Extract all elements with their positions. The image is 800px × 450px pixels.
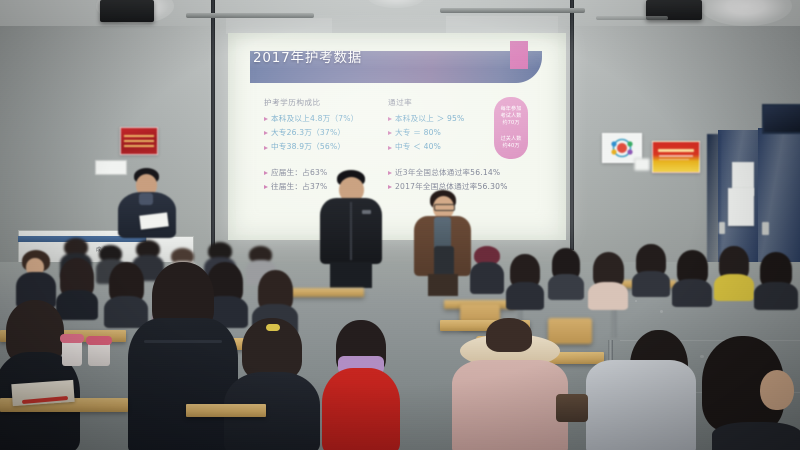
pink-puffer-coat	[452, 360, 568, 450]
red-yellow-banner-poster	[652, 141, 700, 173]
bullet-triangle-icon	[388, 146, 392, 150]
slide-callout-badge: 每年参加 考试人数 约70万 过关人数 约40万	[494, 97, 528, 159]
door-handle-right	[762, 222, 769, 235]
bullet-triangle-icon	[388, 185, 392, 189]
torso	[548, 274, 584, 300]
callout-line: 每年参加	[501, 106, 522, 113]
head	[760, 370, 794, 410]
audience-member	[714, 246, 754, 298]
banner-text-bar	[659, 159, 689, 161]
whiteboard-panel-left	[226, 18, 332, 34]
callout-line: 考试人数	[501, 113, 522, 120]
column-spacer	[264, 158, 389, 169]
bullet-text: 本科及以上4.8万（7%）	[271, 115, 358, 124]
audience-member	[632, 244, 670, 294]
screen-frame-left	[211, 0, 215, 250]
audience-member-foreground	[586, 330, 706, 450]
bullet-text: 大专26.3万（37%）	[271, 129, 345, 138]
puffer-jacket	[128, 318, 238, 450]
lecture-hall-photo: 2017年护考数据 护考学历构成比 本科及以上4.8万（7%） 大专26.3万（…	[0, 0, 800, 450]
bullet-text: 中专38.9万（56%）	[271, 143, 345, 152]
screen-frame-right	[570, 0, 574, 250]
audience-member	[588, 252, 628, 306]
bullet-triangle-icon	[388, 171, 392, 175]
screen-rail-far-right	[596, 16, 668, 20]
bullet-text: 中专 ＜ 40%	[395, 143, 441, 152]
audience-member	[470, 246, 504, 292]
presenter-standing-right	[414, 190, 472, 295]
jacket-logo	[362, 210, 371, 214]
desk-foreground-right	[186, 404, 266, 417]
trousers	[428, 274, 458, 296]
hair-tie	[266, 324, 280, 331]
audience-member	[506, 254, 544, 306]
floor-speck	[660, 310, 663, 313]
banner-headline-bar	[658, 149, 695, 152]
jacket-zip	[350, 202, 352, 260]
bullet-triangle-icon	[264, 171, 268, 175]
bullet-triangle-icon	[388, 131, 392, 135]
classroom-door-right	[758, 128, 800, 266]
column-spacer	[388, 158, 538, 169]
thermos-cup-lid	[60, 334, 84, 343]
projection-screen: 2017年护考数据 护考学历构成比 本科及以上4.8万（7%） 大专26.3万（…	[228, 33, 566, 240]
presenter-at-lectern	[112, 168, 184, 238]
red-coat	[322, 368, 400, 450]
audience-member	[754, 252, 798, 308]
handbag-on-chair	[556, 394, 588, 422]
callout-group-bottom: 过关人数 约40万	[501, 136, 522, 150]
wall-speaker-left	[100, 0, 154, 22]
whiteboard-panel-right	[446, 16, 558, 34]
torso	[714, 274, 754, 301]
door-window	[762, 104, 800, 134]
bullet-text: 近3年全国总体通过率56.14%	[395, 169, 500, 178]
audience-member-foreground	[128, 262, 238, 450]
bullet-item: 本科及以上4.8万（7%）	[264, 115, 389, 124]
torso	[712, 422, 800, 450]
hood-seam	[144, 340, 222, 343]
notebook-on-desk	[11, 380, 74, 406]
bullet-text: 大专 ＝ 80%	[395, 129, 441, 138]
audience-member	[548, 248, 584, 296]
poster-line	[124, 140, 154, 142]
bullet-text: 本科及以上 ＞ 95%	[395, 115, 464, 124]
poster-line	[124, 145, 154, 147]
audience-member-foreground	[702, 336, 800, 450]
bullet-triangle-icon	[388, 117, 392, 121]
torso	[672, 279, 712, 307]
banner-text-bar	[659, 155, 694, 157]
audience-member-foreground	[452, 318, 568, 450]
circular-logo-icon	[609, 138, 635, 158]
door-notice-paper-bottom	[728, 188, 754, 226]
slide-title: 2017年护考数据	[253, 46, 362, 66]
bullet-triangle-icon	[264, 131, 268, 135]
bullet-triangle-icon	[264, 146, 268, 150]
audience-member	[672, 250, 712, 304]
bullet-item: 中专38.9万（56%）	[264, 143, 389, 152]
torso	[588, 282, 628, 310]
red-notice-poster	[120, 127, 158, 155]
torso	[470, 262, 504, 294]
callout-line: 约70万	[501, 120, 522, 127]
callout-group-top: 每年参加 考试人数 约70万	[501, 106, 522, 127]
bullet-item: 近3年全国总体通过率56.14%	[388, 169, 538, 178]
hair	[486, 318, 532, 352]
left-column-heading: 护考学历构成比	[264, 97, 389, 108]
audience-member-foreground	[322, 320, 400, 450]
grey-jacket	[586, 360, 696, 450]
torso	[632, 271, 670, 297]
torso	[506, 282, 544, 310]
bullet-item: 大专26.3万（37%）	[264, 129, 389, 138]
audience-member	[16, 250, 56, 306]
floor-speck	[635, 300, 637, 302]
torso	[754, 282, 798, 310]
trousers	[330, 262, 372, 288]
callout-line: 约40万	[501, 143, 522, 150]
slide-accent-tab	[510, 41, 528, 69]
eyeglasses-icon	[434, 204, 455, 211]
wall-white-card-right	[634, 158, 650, 171]
poster-line	[124, 135, 154, 137]
screen-rail-right	[440, 8, 585, 13]
audience-member-foreground	[224, 318, 320, 450]
door-handle-left	[719, 222, 725, 234]
audience-member-foreground	[0, 300, 80, 450]
shirt-collar	[139, 193, 153, 205]
bullet-triangle-icon	[264, 185, 268, 189]
bullet-triangle-icon	[264, 117, 268, 121]
presenter-standing-center	[318, 170, 384, 288]
slide-content: 2017年护考数据 护考学历构成比 本科及以上4.8万（7%） 大专26.3万（…	[236, 39, 558, 235]
thermos-cup-2-lid	[86, 336, 112, 345]
